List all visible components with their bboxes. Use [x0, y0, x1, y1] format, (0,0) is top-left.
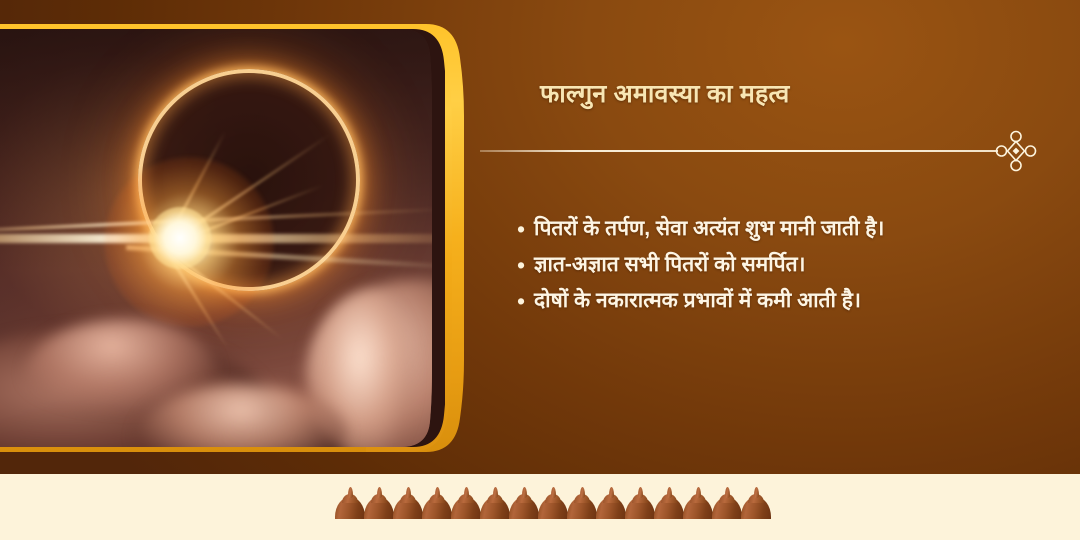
sun-flare-core: [149, 207, 211, 269]
temple-dome-motif: [451, 486, 481, 519]
eclipse-photo: [0, 29, 445, 447]
slide-root: फाल्गुन अमावस्या का महत्व • पितरों के तर…: [0, 0, 1080, 540]
bullet-dot-icon: •: [512, 248, 534, 282]
eclipse-photo-frame: [0, 24, 478, 452]
temple-dome-motif: [422, 486, 452, 519]
list-item-label: पितरों के तर्पण, सेवा अत्यंत शुभ मानी जा…: [534, 212, 1012, 246]
temple-dome-motif: [480, 486, 510, 519]
list-item-label: ज्ञात-अज्ञात सभी पितरों को समर्पित।: [534, 248, 1012, 282]
divider: [480, 143, 1038, 159]
temple-dome-motif: [625, 486, 655, 519]
temple-dome-motif: [393, 486, 423, 519]
temple-dome-border: [335, 483, 757, 519]
page-title: फाल्गुन अमावस्या का महत्व: [540, 79, 1010, 110]
list-item-label: दोषों के नकारात्मक प्रभावों में कमी आती …: [534, 284, 1012, 318]
bullet-list: • पितरों के तर्पण, सेवा अत्यंत शुभ मानी …: [512, 212, 1012, 320]
divider-line: [480, 150, 998, 152]
temple-dome-motif: [538, 486, 568, 519]
list-item: • पितरों के तर्पण, सेवा अत्यंत शुभ मानी …: [512, 212, 1012, 246]
quatrefoil-knot-ornament: [994, 129, 1038, 173]
temple-dome-motif: [567, 486, 597, 519]
list-item: • ज्ञात-अज्ञात सभी पितरों को समर्पित।: [512, 248, 1012, 282]
temple-dome-motif: [712, 486, 742, 519]
temple-dome-motif: [364, 486, 394, 519]
list-item: • दोषों के नकारात्मक प्रभावों में कमी आत…: [512, 284, 1012, 318]
bullet-dot-icon: •: [512, 284, 534, 318]
temple-dome-motif: [654, 486, 684, 519]
temple-dome-motif: [509, 486, 539, 519]
bullet-dot-icon: •: [512, 212, 534, 246]
temple-dome-motif: [596, 486, 626, 519]
temple-dome-motif: [683, 486, 713, 519]
temple-dome-motif: [335, 486, 365, 519]
eclipse-photo-inner: [0, 29, 445, 447]
temple-dome-motif: [741, 486, 771, 519]
